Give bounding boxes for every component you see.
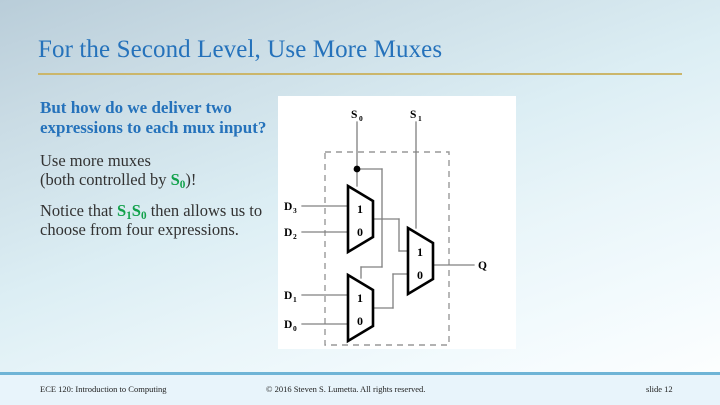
svg-text:2: 2: [293, 232, 297, 241]
svg-text:1: 1: [418, 114, 422, 123]
paragraph-notice-that: Notice that S1S0 then allows us to choos…: [40, 201, 270, 239]
slide-root: For the Second Level, Use More Muxes But…: [0, 0, 720, 405]
title-divider: [38, 73, 682, 75]
s0b-subscript: 0: [141, 210, 147, 222]
mux-right-port-0: 0: [417, 268, 423, 282]
paragraph-use-more-muxes: Use more muxes (both controlled by S0)!: [40, 151, 270, 189]
lead-question: But how do we deliver two expressions to…: [40, 98, 270, 138]
page-title: For the Second Level, Use More Muxes: [38, 36, 658, 64]
mux-bottom-port-1: 1: [357, 291, 363, 305]
mux-circuit-figure: 1 0 1 0 1 0 S 0 S 1 D 3: [278, 96, 516, 349]
svg-text:D: D: [284, 290, 292, 302]
s0-base: S: [171, 170, 180, 189]
svg-text:S: S: [410, 109, 416, 121]
svg-text:D: D: [284, 319, 292, 331]
body-text-column: But how do we deliver two expressions to…: [40, 98, 270, 251]
footer-copyright: © 2016 Steven S. Lumetta. All rights res…: [266, 384, 425, 394]
s1-base: S: [117, 201, 126, 220]
select-signal-s0: S0: [171, 170, 186, 189]
label-q: Q: [478, 260, 487, 272]
svg-text:D: D: [284, 227, 292, 239]
select-signal-s0-b: S0: [132, 201, 147, 220]
svg-text:0: 0: [359, 114, 363, 123]
junction-dot-s0: [354, 166, 361, 173]
mux-top-port-1: 1: [357, 202, 363, 216]
para3-prefix: Notice that: [40, 201, 117, 220]
select-signal-s1: S1: [117, 201, 132, 220]
s0b-base: S: [132, 201, 141, 220]
mux-top-port-0: 0: [357, 225, 363, 239]
svg-text:0: 0: [293, 324, 297, 333]
svg-text:S: S: [351, 109, 357, 121]
svg-text:D: D: [284, 201, 292, 213]
mux-right-port-1: 1: [417, 245, 423, 259]
svg-text:1: 1: [293, 295, 297, 304]
mux-bottom-port-0: 0: [357, 314, 363, 328]
para2-line2-suffix: )!: [185, 170, 196, 189]
s1-subscript: 1: [126, 210, 132, 222]
footer-course-label: ECE 120: Introduction to Computing: [40, 384, 167, 394]
para2-line1: Use more muxes: [40, 151, 151, 170]
para2-line2-prefix: (both controlled by: [40, 170, 171, 189]
svg-text:3: 3: [293, 206, 297, 215]
footer-slide-number: slide 12: [646, 384, 673, 394]
s0-subscript: 0: [180, 179, 186, 191]
